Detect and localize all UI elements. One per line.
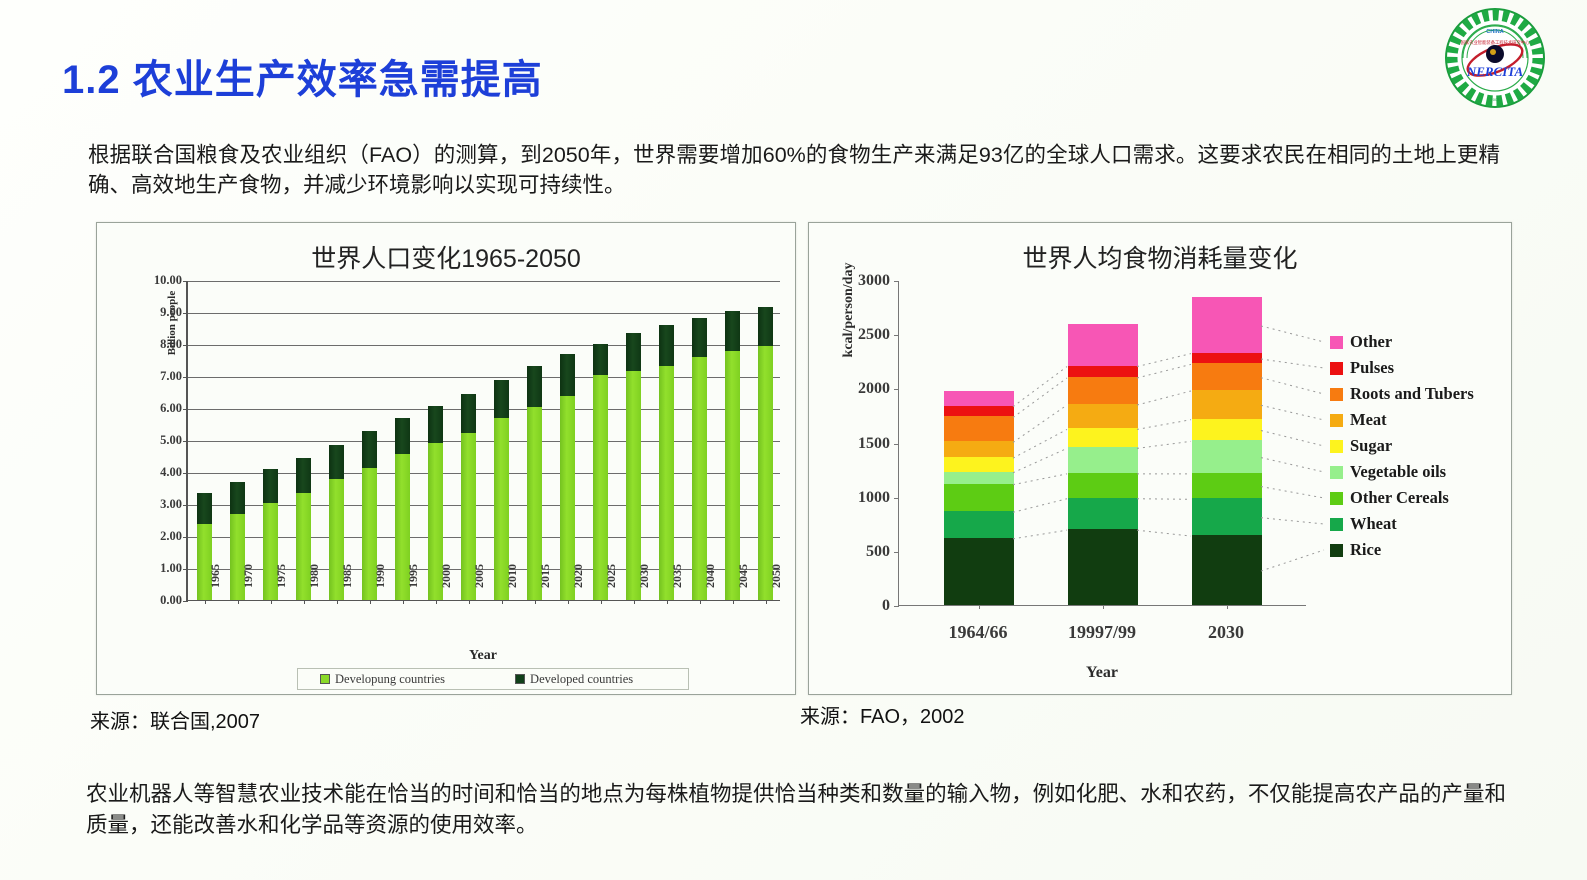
y-tick-mark: [894, 606, 899, 607]
y-axis-tick: 7.00: [122, 369, 182, 384]
y-tick-mark: [894, 444, 899, 445]
nercita-logo: CHINA 国家农业智能装备工程技术研究中心 NERCITA 2003: [1443, 6, 1547, 110]
bar-segment-developed: [527, 366, 542, 407]
population-bar: [692, 318, 707, 600]
bar-segment-wheat: [944, 511, 1014, 538]
x-tick-mark: [733, 600, 734, 604]
legend-swatch-roots-and-tubers: [1330, 388, 1343, 401]
legend-label-other: Other: [1350, 332, 1392, 352]
legend-swatch-other: [1330, 336, 1343, 349]
legend-label-vegetable-oils: Vegetable oils: [1350, 462, 1446, 482]
bar-segment-wheat: [1192, 498, 1262, 535]
y-tick-mark: [183, 345, 188, 346]
legend-label-pulses: Pulses: [1350, 358, 1394, 378]
population-bar: [659, 325, 674, 600]
bar-segment-developed: [197, 493, 212, 523]
bar-segment-developed: [329, 445, 344, 480]
y-tick-mark: [894, 281, 899, 282]
bar-segment-pulses: [1192, 353, 1262, 364]
bar-segment-other: [1192, 297, 1262, 352]
x-tick-mark: [271, 600, 272, 604]
x-tick-mark: [337, 600, 338, 604]
bar-segment-other: [944, 391, 1014, 406]
y-axis-tick: 9.00: [122, 305, 182, 320]
x-axis-tick: 1970: [241, 564, 256, 608]
y-axis-tick: 3000: [830, 272, 890, 290]
x-axis-tick: 1990: [373, 564, 388, 608]
y-tick-mark: [183, 569, 188, 570]
x-axis-tick: 1985: [340, 564, 355, 608]
population-bar: [626, 333, 641, 600]
food-bar: [1192, 297, 1262, 605]
x-tick-mark: [568, 600, 569, 604]
bar-segment-roots-and-tubers: [1068, 377, 1138, 404]
x-axis-tick: 2030: [637, 564, 652, 608]
x-axis-tick: 2045: [736, 564, 751, 608]
x-tick-mark: [601, 600, 602, 604]
legend-item-pulses: Pulses: [1330, 355, 1474, 381]
bar-segment-meat: [944, 441, 1014, 457]
svg-text:国家农业智能装备工程技术研究中心: 国家农业智能装备工程技术研究中心: [1461, 39, 1530, 46]
y-axis-tick: 4.00: [122, 465, 182, 480]
bar-segment-other-cereals: [944, 484, 1014, 512]
bar-segment-developed: [296, 458, 311, 494]
population-bar: [758, 307, 773, 600]
x-axis-tick: 1980: [307, 564, 322, 608]
bar-segment-sugar: [1068, 428, 1138, 447]
x-tick-mark: [1227, 605, 1228, 609]
food-x-axis-label: Year: [898, 664, 1306, 682]
x-axis-tick: 1964/66: [918, 622, 1038, 643]
bar-segment-developing: [758, 346, 773, 600]
bar-segment-developed: [428, 406, 443, 443]
x-tick-mark: [238, 600, 239, 604]
bar-segment-sugar: [1192, 419, 1262, 441]
x-tick-mark: [667, 600, 668, 604]
x-axis-tick: 1995: [406, 564, 421, 608]
intro-paragraph: 根据联合国粮食及农业组织（FAO）的测算，到2050年，世界需要增加60%的食物…: [88, 140, 1500, 200]
y-axis-tick: 0: [830, 597, 890, 615]
gridline: [188, 313, 780, 314]
legend-item-roots-and-tubers: Roots and Tubers: [1330, 381, 1474, 407]
legend-swatch-developing: [320, 674, 330, 684]
legend-item-sugar: Sugar: [1330, 433, 1474, 459]
legend-item-vegetable-oils: Vegetable oils: [1330, 459, 1474, 485]
y-axis-tick: 2500: [830, 326, 890, 344]
bar-segment-rice: [944, 538, 1014, 605]
y-axis-tick: 3.00: [122, 497, 182, 512]
bar-segment-vegetable-oils: [944, 472, 1014, 484]
bar-segment-rice: [1192, 535, 1262, 605]
bar-segment-roots-and-tubers: [944, 416, 1014, 441]
y-axis-tick: 0.00: [122, 593, 182, 608]
y-axis-tick: 6.00: [122, 401, 182, 416]
food-y-axis-label: kcal/person/day: [841, 235, 857, 385]
bar-segment-developed: [263, 469, 278, 504]
bar-segment-developing: [725, 351, 740, 600]
bar-segment-developed: [395, 418, 410, 454]
bar-segment-other-cereals: [1192, 473, 1262, 498]
svg-text:NERCITA: NERCITA: [1466, 64, 1524, 79]
y-axis-tick: 1.00: [122, 561, 182, 576]
y-tick-mark: [183, 537, 188, 538]
legend-swatch-vegetable-oils: [1330, 466, 1343, 479]
bar-segment-vegetable-oils: [1068, 447, 1138, 472]
y-tick-mark: [894, 389, 899, 390]
legend-swatch-rice: [1330, 544, 1343, 557]
bar-segment-developed: [692, 318, 707, 357]
bar-segment-pulses: [1068, 366, 1138, 377]
x-tick-mark: [469, 600, 470, 604]
x-axis-tick: 2030: [1166, 622, 1286, 643]
bar-segment-other-cereals: [1068, 473, 1138, 498]
page-title: 1.2 农业生产效率急需提高: [62, 47, 543, 105]
population-x-axis-label: Year: [186, 648, 780, 664]
x-tick-mark: [205, 600, 206, 604]
legend-label-developing: Developung countries: [335, 672, 445, 687]
food-chart-title: 世界人均食物消耗量变化: [809, 239, 1511, 275]
bar-segment-roots-and-tubers: [1192, 363, 1262, 390]
bar-segment-developed: [626, 333, 641, 370]
bar-segment-sugar: [944, 457, 1014, 472]
bar-segment-developed: [230, 482, 245, 513]
food-plot-area: [898, 281, 1306, 606]
legend-label-roots-and-tubers: Roots and Tubers: [1350, 384, 1474, 404]
legend-swatch-meat: [1330, 414, 1343, 427]
x-tick-mark: [634, 600, 635, 604]
bar-segment-developed: [494, 380, 509, 418]
bar-segment-developed: [362, 431, 377, 468]
legend-item-rice: Rice: [1330, 537, 1474, 563]
legend-label-sugar: Sugar: [1350, 436, 1392, 456]
population-bar: [593, 344, 608, 600]
population-legend: Developung countries Developed countries: [297, 668, 689, 690]
legend-item-meat: Meat: [1330, 407, 1474, 433]
x-tick-mark: [502, 600, 503, 604]
y-tick-mark: [894, 552, 899, 553]
y-axis-tick: 2000: [830, 380, 890, 398]
food-bar: [944, 391, 1014, 606]
x-axis-tick: 2020: [571, 564, 586, 608]
population-bar: [725, 311, 740, 600]
x-axis-tick: 2040: [703, 564, 718, 608]
bar-segment-rice: [1068, 529, 1138, 605]
y-tick-mark: [183, 281, 188, 282]
legend-swatch-developed: [515, 674, 525, 684]
bar-segment-meat: [1192, 390, 1262, 419]
bar-segment-meat: [1068, 404, 1138, 428]
y-tick-mark: [183, 473, 188, 474]
legend-swatch-other-cereals: [1330, 492, 1343, 505]
x-axis-tick: 19997/99: [1042, 622, 1162, 643]
food-legend: OtherPulsesRoots and TubersMeatSugarVege…: [1330, 329, 1474, 563]
x-tick-mark: [304, 600, 305, 604]
x-axis-tick: 2015: [538, 564, 553, 608]
x-tick-mark: [1103, 605, 1104, 609]
legend-label-other-cereals: Other Cereals: [1350, 488, 1449, 508]
x-axis-tick: 2000: [439, 564, 454, 608]
y-tick-mark: [183, 601, 188, 602]
y-axis-tick: 500: [830, 543, 890, 561]
y-axis-tick: 1500: [830, 435, 890, 453]
gridline: [188, 281, 780, 282]
bar-segment-developed: [461, 394, 476, 433]
bar-segment-vegetable-oils: [1192, 440, 1262, 473]
slide-root: CHINA 国家农业智能装备工程技术研究中心 NERCITA 2003 1.2 …: [0, 0, 1587, 880]
legend-label-developed: Developed countries: [530, 672, 633, 687]
population-chart-title: 世界人口变化1965-2050: [97, 239, 795, 275]
x-axis-tick: 1965: [208, 564, 223, 608]
y-tick-mark: [894, 335, 899, 336]
x-tick-mark: [766, 600, 767, 604]
legend-label-wheat: Wheat: [1350, 514, 1397, 534]
bar-segment-wheat: [1068, 498, 1138, 529]
legend-item-other: Other: [1330, 329, 1474, 355]
legend-swatch-sugar: [1330, 440, 1343, 453]
bar-segment-developed: [758, 307, 773, 346]
y-tick-mark: [183, 409, 188, 410]
legend-item-developing: Developung countries: [320, 672, 445, 687]
bar-segment-developed: [593, 344, 608, 375]
y-tick-mark: [183, 441, 188, 442]
y-tick-mark: [183, 377, 188, 378]
y-axis-tick: 2.00: [122, 529, 182, 544]
legend-swatch-pulses: [1330, 362, 1343, 375]
food-bar: [1068, 324, 1138, 605]
legend-label-rice: Rice: [1350, 540, 1381, 560]
x-axis-tick: 2050: [769, 564, 784, 608]
y-tick-mark: [183, 505, 188, 506]
y-axis-tick: 10.00: [122, 273, 182, 288]
population-source-caption: 来源：联合国,2007: [90, 705, 260, 734]
food-source-caption: 来源：FAO，2002: [800, 700, 965, 729]
bar-segment-developed: [560, 354, 575, 396]
bar-segment-pulses: [944, 406, 1014, 417]
x-axis-tick: 2005: [472, 564, 487, 608]
bottom-paragraph: 农业机器人等智慧农业技术能在恰当的时间和恰当的地点为每株植物提供恰当种类和数量的…: [86, 779, 1506, 841]
bar-segment-other: [1068, 324, 1138, 365]
y-axis-tick: 5.00: [122, 433, 182, 448]
legend-item-developed: Developed countries: [515, 672, 633, 687]
x-tick-mark: [436, 600, 437, 604]
legend-label-meat: Meat: [1350, 410, 1387, 430]
legend-item-other-cereals: Other Cereals: [1330, 485, 1474, 511]
bar-segment-developed: [725, 311, 740, 351]
x-tick-mark: [700, 600, 701, 604]
x-tick-mark: [535, 600, 536, 604]
bar-segment-developed: [659, 325, 674, 365]
y-tick-mark: [183, 313, 188, 314]
y-axis-tick: 8.00: [122, 337, 182, 352]
y-axis-tick: 1000: [830, 489, 890, 507]
svg-text:2003: 2003: [1491, 97, 1501, 102]
population-plot-area: [186, 281, 780, 601]
x-axis-tick: 2035: [670, 564, 685, 608]
x-tick-mark: [403, 600, 404, 604]
x-tick-mark: [370, 600, 371, 604]
legend-swatch-wheat: [1330, 518, 1343, 531]
x-axis-tick: 2010: [505, 564, 520, 608]
y-tick-mark: [894, 498, 899, 499]
x-axis-tick: 2025: [604, 564, 619, 608]
x-tick-mark: [979, 605, 980, 609]
x-axis-tick: 1975: [274, 564, 289, 608]
legend-item-wheat: Wheat: [1330, 511, 1474, 537]
svg-text:CHINA: CHINA: [1486, 29, 1503, 35]
